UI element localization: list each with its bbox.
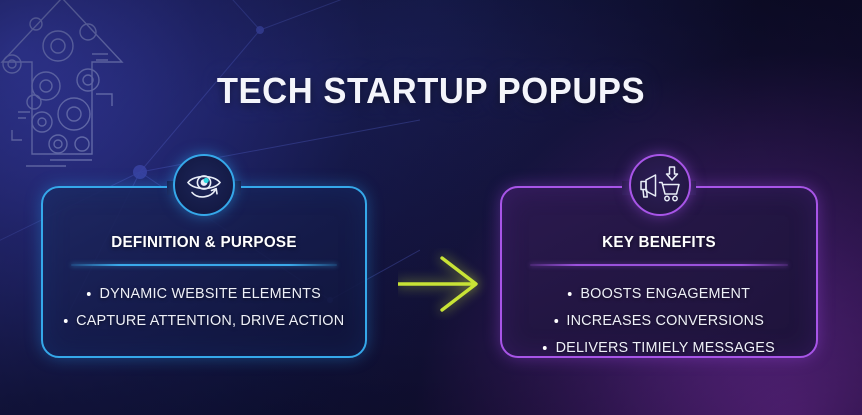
list-item-label: INCREASES CONVERSIONS xyxy=(566,313,764,328)
right-arrow-icon xyxy=(398,248,494,320)
bullet-dot-icon xyxy=(64,319,68,323)
card-divider-definition xyxy=(71,264,337,266)
bullet-list-definition: DYNAMIC WEBSITE ELEMENTS CAPTURE ATTENTI… xyxy=(43,280,365,334)
list-item: BOOSTS ENGAGEMENT xyxy=(508,280,809,307)
bullet-dot-icon xyxy=(543,346,547,350)
list-item: CAPTURE ATTENTION, DRIVE ACTION xyxy=(49,307,358,334)
eye-refresh-icon xyxy=(183,164,225,206)
card-divider-benefits xyxy=(530,264,788,266)
list-item: INCREASES CONVERSIONS xyxy=(508,307,809,334)
page-title: TECH STARTUP POPUPS xyxy=(17,70,845,112)
list-item-label: DYNAMIC WEBSITE ELEMENTS xyxy=(100,286,321,301)
list-item-label: CAPTURE ATTENTION, DRIVE ACTION xyxy=(76,313,344,328)
list-item: DYNAMIC WEBSITE ELEMENTS xyxy=(49,280,358,307)
badge-benefits xyxy=(629,154,691,216)
list-item-label: BOOSTS ENGAGEMENT xyxy=(580,286,750,301)
bullet-dot-icon xyxy=(554,319,558,323)
infographic-canvas: TECH STARTUP POPUPS DEFINITION & PURPOSE… xyxy=(0,0,862,415)
bullet-dot-icon xyxy=(568,292,572,296)
bullet-list-benefits: BOOSTS ENGAGEMENT INCREASES CONVERSIONS … xyxy=(502,280,816,361)
list-item-label: DELIVERS TIMIELY MESSAGES xyxy=(556,340,775,355)
list-item: DELIVERS TIMIELY MESSAGES xyxy=(508,334,809,361)
bullet-dot-icon xyxy=(87,292,91,296)
megaphone-cart-icon xyxy=(638,164,682,206)
badge-definition xyxy=(173,154,235,216)
card-heading-definition: DEFINITION & PURPOSE xyxy=(51,234,357,252)
card-heading-benefits: KEY BENEFITS xyxy=(510,234,808,252)
